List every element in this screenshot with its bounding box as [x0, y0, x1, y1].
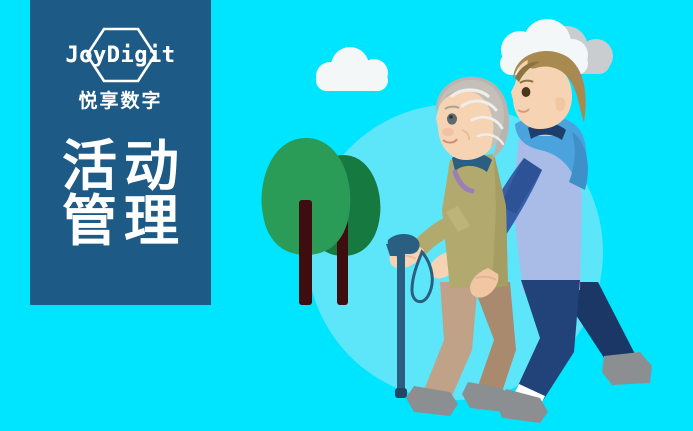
- brand-logo: JoyDigit: [46, 26, 196, 84]
- company-name: 悦享数字: [78, 86, 162, 113]
- page-title-line-2: 管理: [55, 194, 186, 249]
- info-panel: JoyDigit 悦享数字 活动 管理: [30, 0, 211, 305]
- eye-young-man: [522, 87, 531, 97]
- eye-elderly-woman: [447, 113, 457, 124]
- cane-tip: [395, 388, 407, 398]
- poster-canvas: JoyDigit 悦享数字 活动 管理: [0, 0, 693, 431]
- page-title-line-1: 活动: [55, 139, 186, 194]
- tree-front-trunk: [299, 200, 312, 305]
- page-title: 活动 管理: [55, 139, 186, 249]
- logo-wordmark: JoyDigit: [46, 26, 196, 84]
